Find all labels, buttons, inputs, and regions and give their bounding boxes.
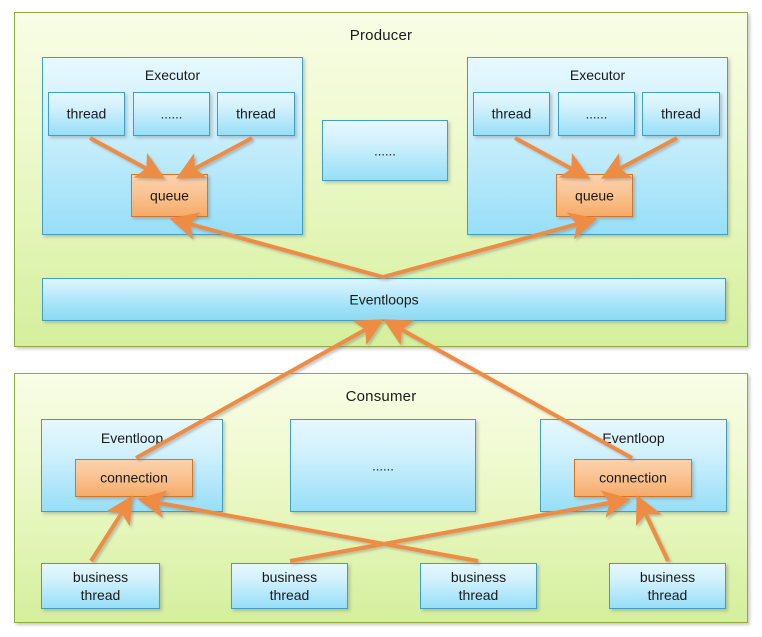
connection-label: connection	[76, 470, 192, 487]
business-thread-label: business thread	[610, 568, 725, 604]
business-thread-label: business thread	[232, 568, 347, 604]
consumer-eventloop-middle-ellipsis: ......	[290, 419, 476, 512]
executor-right-queue: queue	[556, 174, 633, 217]
executor-left-title: Executor	[43, 67, 302, 84]
business-thread-label: business thread	[42, 568, 159, 604]
executor-right-thread-2: thread	[642, 92, 720, 136]
executor-right-thread-ellipsis: ......	[558, 92, 635, 136]
queue-label: queue	[132, 187, 207, 204]
executor-left-thread-ellipsis: ......	[133, 92, 210, 136]
business-thread-label: business thread	[421, 568, 536, 604]
business-thread-line2: thread	[270, 587, 310, 603]
ellipsis-label: ......	[134, 106, 209, 123]
ellipsis-label: ......	[559, 106, 634, 123]
executor-right-thread-1: thread	[473, 92, 550, 136]
thread-label: thread	[474, 106, 549, 123]
business-thread-1: business thread	[41, 563, 160, 609]
consumer-connection-left: connection	[75, 459, 193, 497]
thread-label: thread	[218, 106, 294, 123]
business-thread-line1: business	[451, 569, 506, 585]
eventloop-right-title: Eventloop	[541, 430, 726, 447]
executor-left-queue: queue	[131, 174, 208, 217]
consumer-connection-right: connection	[574, 459, 692, 497]
business-thread-line2: thread	[459, 587, 499, 603]
ellipsis-label: ......	[323, 142, 447, 159]
queue-label: queue	[557, 187, 632, 204]
eventloops-label: Eventloops	[43, 291, 725, 308]
business-thread-line1: business	[640, 569, 695, 585]
business-thread-line1: business	[262, 569, 317, 585]
executor-left-thread-2: thread	[217, 92, 295, 136]
executor-middle-ellipsis-box: ......	[322, 120, 448, 181]
business-thread-3: business thread	[420, 563, 537, 609]
business-thread-line1: business	[73, 569, 128, 585]
connection-label: connection	[575, 470, 691, 487]
thread-label: thread	[49, 106, 124, 123]
producer-title: Producer	[15, 27, 747, 45]
diagram-canvas: Producer Executor thread ...... thread q…	[0, 0, 762, 637]
business-thread-2: business thread	[231, 563, 348, 609]
business-thread-4: business thread	[609, 563, 726, 609]
thread-label: thread	[643, 106, 719, 123]
executor-right-title: Executor	[468, 67, 727, 84]
business-thread-line2: thread	[648, 587, 688, 603]
ellipsis-label: ......	[291, 457, 475, 474]
eventloop-left-title: Eventloop	[42, 430, 222, 447]
business-thread-line2: thread	[81, 587, 121, 603]
executor-left-thread-1: thread	[48, 92, 125, 136]
eventloops-bar: Eventloops	[42, 278, 726, 321]
consumer-title: Consumer	[15, 388, 747, 406]
